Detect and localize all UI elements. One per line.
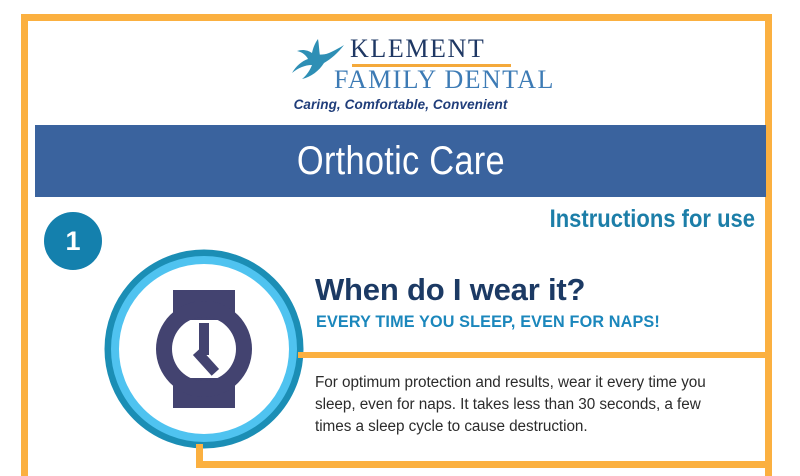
title-banner: Orthotic Care — [35, 125, 766, 197]
step-headline: When do I wear it? — [315, 272, 585, 308]
step-subheadline: EVERY TIME YOU SLEEP, EVEN FOR NAPS! — [316, 313, 660, 332]
watch-clock-icon — [104, 249, 304, 449]
step-number-badge: 1 — [44, 212, 102, 270]
frame-border-right — [765, 14, 772, 476]
logo-line-klement: KLEMENT — [350, 36, 485, 62]
gold-elbow-horizontal — [196, 461, 772, 468]
logo-line-family-dental: FAMILY DENTAL — [334, 67, 555, 93]
gold-divider-line — [298, 352, 772, 358]
instructions-for-use-label: Instructions for use — [488, 205, 755, 234]
frame-border-top — [21, 14, 772, 21]
step-number-label: 1 — [65, 228, 80, 255]
frame-border-left — [21, 14, 28, 476]
logo-tagline: Caring, Comfortable, Convenient — [288, 97, 513, 112]
brand-logo: KLEMENT FAMILY DENTAL Caring, Comfortabl… — [288, 33, 513, 113]
instruction-sheet-page: KLEMENT FAMILY DENTAL Caring, Comfortabl… — [0, 0, 800, 476]
page-title: Orthotic Care — [297, 139, 505, 184]
step-body-text: For optimum protection and results, wear… — [315, 372, 735, 438]
